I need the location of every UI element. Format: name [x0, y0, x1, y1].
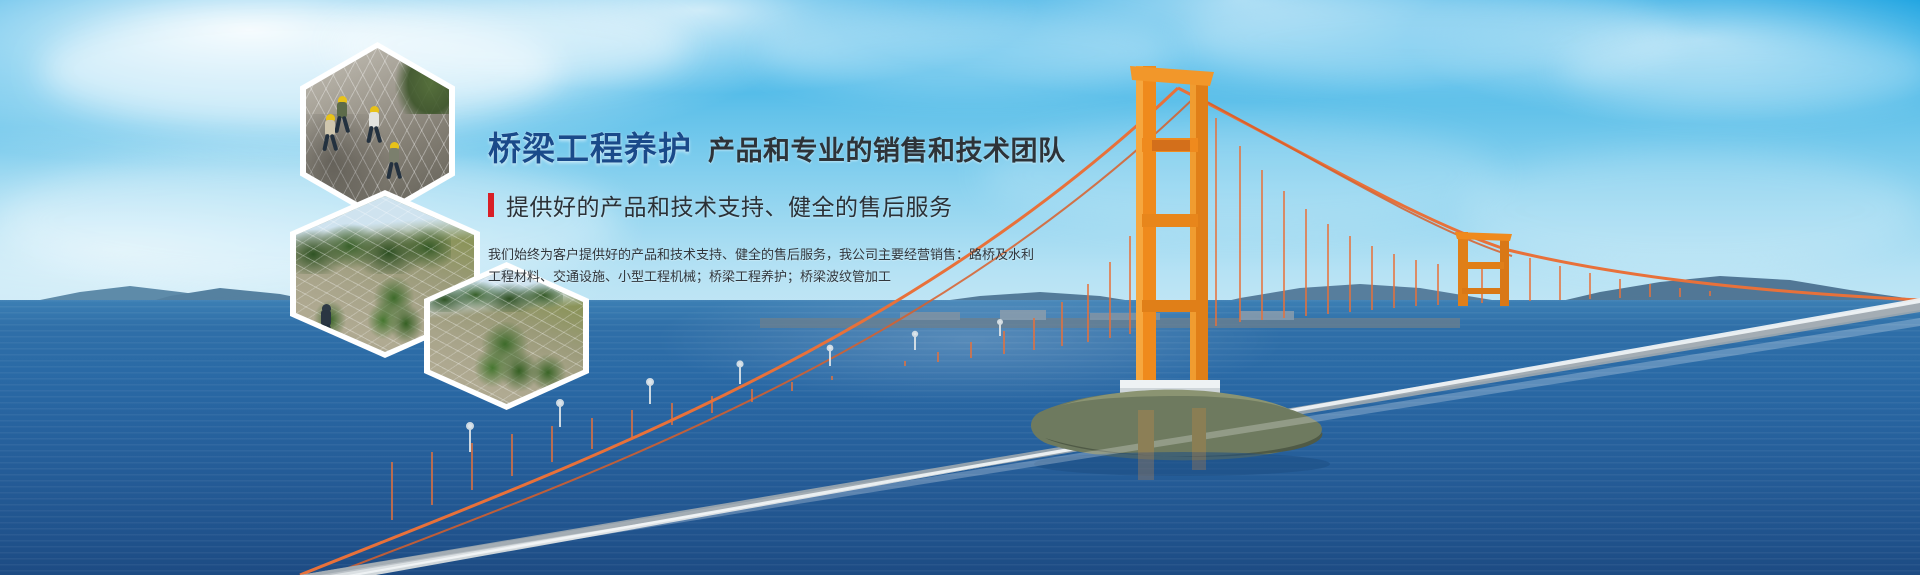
vegetation	[364, 277, 425, 352]
pier-island	[1031, 390, 1330, 476]
body-copy-line-2: 工程材料、交通设施、小型工程机械；桥梁工程养护；桥梁波纹管加工	[488, 266, 1108, 288]
hero-banner: 桥梁工程养护 产品和专业的销售和技术团队 提供好的产品和技术支持、健全的售后服务…	[0, 0, 1920, 575]
subheadline: 提供好的产品和技术支持、健全的售后服务	[488, 188, 1108, 222]
headline-lead: 桥梁工程养护	[488, 122, 692, 170]
photo-slope-with-tree	[430, 268, 583, 404]
bridge-tower-far	[1455, 232, 1512, 306]
photo-tile-inner	[306, 48, 449, 214]
bridge-tower-main	[1120, 66, 1220, 410]
headline: 桥梁工程养护 产品和专业的销售和技术团队	[488, 122, 1108, 170]
accent-bar	[488, 193, 494, 217]
body-copy-line-1: 我们始终为客户提供好的产品和技术支持、健全的售后服务，我公司主要经营销售：路桥及…	[488, 244, 1108, 266]
photo-rock-face	[306, 48, 449, 214]
photo-tile-inner	[430, 268, 583, 404]
headline-tail: 产品和专业的销售和技术团队	[708, 129, 1066, 168]
body-copy: 我们始终为客户提供好的产品和技术支持、健全的售后服务，我公司主要经营销售：路桥及…	[488, 244, 1108, 288]
subheadline-text: 提供好的产品和技术支持、健全的售后服务	[506, 188, 953, 222]
banner-copy: 桥梁工程养护 产品和专业的销售和技术团队 提供好的产品和技术支持、健全的售后服务…	[488, 122, 1108, 288]
